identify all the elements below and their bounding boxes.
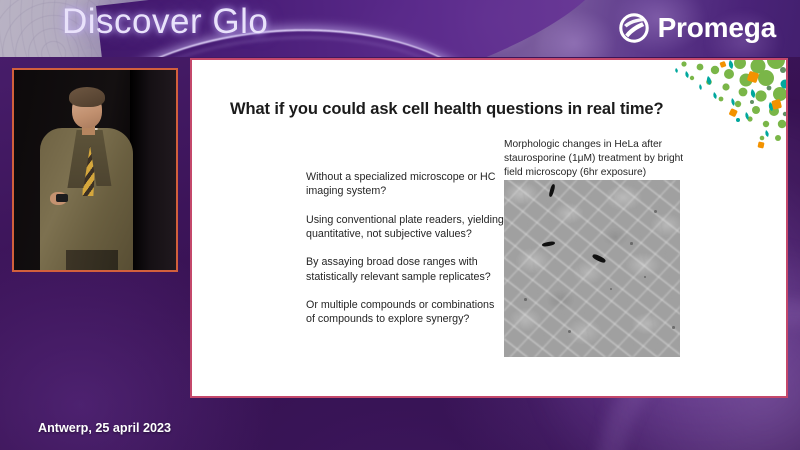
question-item: By assaying broad dose ranges with stati… <box>306 255 506 284</box>
micrograph-cell-borders <box>504 180 680 357</box>
promega-logo: Promega <box>619 12 776 44</box>
micrograph-image <box>504 180 680 357</box>
presenter-clicker <box>56 194 68 202</box>
micrograph-caption: Morphologic changes in HeLa after stauro… <box>504 138 696 180</box>
micrograph-speck <box>644 276 646 278</box>
slide-title: What if you could ask cell health questi… <box>230 100 663 119</box>
question-item: Using conventional plate readers, yieldi… <box>306 213 506 242</box>
micrograph-speck <box>610 288 612 290</box>
presenter-curtain <box>130 70 178 272</box>
micrograph-speck <box>630 242 633 245</box>
promega-wordmark: Promega <box>658 12 776 44</box>
footer-date: Antwerp, 25 april 2023 <box>38 421 171 435</box>
promega-swirl-icon <box>619 13 649 43</box>
question-item: Without a specialized microscope or HC i… <box>306 170 506 199</box>
micrograph-speck <box>568 330 571 333</box>
question-item: Or multiple compounds or combinations of… <box>306 298 506 327</box>
micrograph-speck <box>672 326 675 329</box>
presentation-slide: What if you could ask cell health questi… <box>190 58 788 398</box>
question-list: Without a specialized microscope or HC i… <box>306 170 506 327</box>
presenter-video-thumbnail[interactable] <box>12 68 178 272</box>
brand-title: Discover Glo <box>62 2 268 42</box>
micrograph-speck <box>654 210 657 213</box>
header-band: Discover Glo Promega <box>0 0 800 57</box>
micrograph-speck <box>524 298 527 301</box>
presenter-legs <box>66 250 118 272</box>
presenter-hair <box>69 87 105 107</box>
webinar-screenshot: Discover Glo Promega <box>0 0 800 450</box>
